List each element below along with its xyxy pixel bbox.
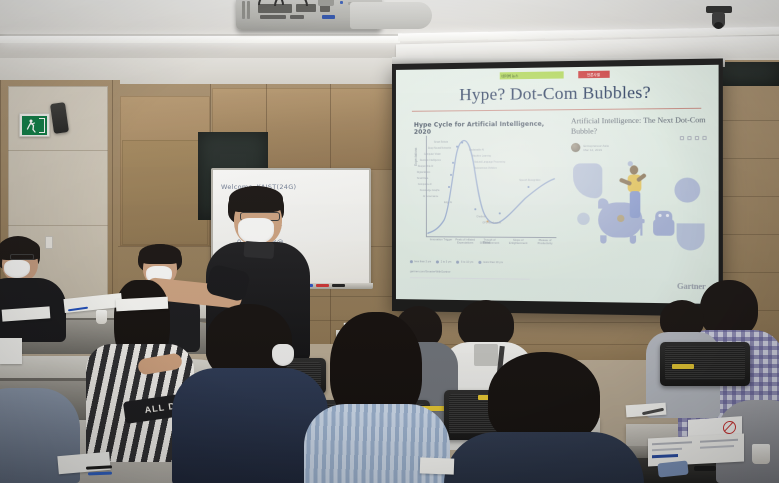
- twitter-icon[interactable]: [687, 136, 691, 140]
- projector-housing: [350, 2, 432, 29]
- gartner-logo: Gartner: [677, 282, 706, 292]
- chair-tag: [672, 364, 694, 369]
- chart-heading-wrap: Hype Cycle for Artificial Intelligence, …: [414, 121, 556, 136]
- article-byline: Entrepreneur Asia Mar 12, 2019: [571, 142, 709, 152]
- chart-annotation: Composite AI: [418, 184, 432, 186]
- slide-title: Hype? Dot-Com Bubbles?: [396, 81, 719, 105]
- deco-shape-1: [573, 163, 602, 198]
- chart-annotation: Responsible AI: [418, 166, 433, 168]
- avatar: [571, 143, 580, 152]
- legend-item-2: 2 to 5 yrs: [436, 260, 451, 263]
- linkedin-icon[interactable]: [695, 136, 699, 140]
- chart-legend: bottom-left less than 2 yrs 2 to 5 yrs 5…: [410, 260, 503, 264]
- article-title: Artificial Intelligence: The Next Dot-Co…: [571, 115, 709, 137]
- slide-bar-segment-1: 네이버 뉴스: [499, 71, 563, 79]
- chart-title: Hype Cycle for Artificial Intelligence, …: [414, 121, 556, 136]
- phone[interactable]: [694, 466, 716, 471]
- deco-shape-2: [674, 178, 700, 203]
- deco-shape-4: [577, 213, 590, 225]
- no-smoking-icon: [723, 421, 736, 435]
- chart-annotation: Smart Robots: [434, 142, 448, 144]
- exit-pictogram: [22, 116, 47, 135]
- byline-meta: Mar 12, 2019: [583, 148, 608, 152]
- robot-icon: [653, 219, 674, 236]
- legend-item-4: more than 10 yrs: [478, 261, 502, 264]
- chart-phase: Slope of Enlightenment: [505, 239, 532, 246]
- chart-annotation: Explainable AI: [469, 150, 484, 152]
- security-camera-lens: [714, 22, 723, 29]
- projection-screen: 네이버 뉴스 언론사별 Hype? Dot-Com Bubbles? Hype …: [396, 65, 719, 304]
- link-icon[interactable]: [702, 136, 706, 140]
- person-illustration: [630, 165, 638, 174]
- face-mask: [4, 260, 30, 278]
- chart-source: gartner.com/SmarterWithGartner: [410, 269, 451, 273]
- handout-papers[interactable]: [420, 457, 455, 474]
- share-row: [680, 136, 707, 140]
- chart-annotation: Computer Vision: [424, 154, 441, 156]
- face-mask: [272, 344, 294, 366]
- legend-item-1: less than 2 yrs: [410, 260, 431, 263]
- slide-bar-segment-2: 언론사별: [578, 71, 609, 79]
- marker-red[interactable]: [316, 284, 329, 287]
- article-illustration: [571, 155, 711, 255]
- chart-phase: Peak of Inflated Expectations: [452, 238, 478, 245]
- marker-black[interactable]: [332, 284, 345, 287]
- chart-annotation: Small Data: [417, 178, 428, 180]
- projector-cable-2: [274, 0, 308, 6]
- emergency-exit-sign: [19, 113, 50, 137]
- chart-phase: Plateau of Productivity: [532, 239, 559, 246]
- chart-annotation: Deep Neural Networks: [428, 148, 451, 150]
- slide-browser-bar: 네이버 뉴스 언론사별: [499, 71, 609, 80]
- projection-screen-frame: 네이버 뉴스 언론사별 Hype? Dot-Com Bubbles? Hype …: [392, 58, 723, 316]
- chart-annotation: Autonomous Vehicles: [474, 168, 496, 170]
- deco-shape-3: [677, 223, 705, 250]
- facebook-icon[interactable]: [680, 136, 684, 140]
- dark-navy-shirt: [444, 432, 644, 483]
- chart-annotation: Machine Learning: [472, 156, 491, 158]
- chart-annotation: GPU Accelerators: [482, 222, 501, 224]
- projector-mount: [318, 0, 334, 6]
- article-panel: Artificial Intelligence: The Next Dot-Co…: [571, 115, 709, 152]
- paper-cup[interactable]: [96, 310, 107, 324]
- legend-item-3: 5 to 10 yrs: [456, 261, 473, 264]
- chart-phase: Trough of Disillusionment: [476, 239, 502, 246]
- chart-annotation: Speech Recognition: [519, 180, 540, 182]
- face-mask: [238, 218, 274, 244]
- chart-annotation: Decision Intelligence: [420, 160, 441, 162]
- lecture-room-photo: Welcome_KAIST(24G) 참고하여 kaist_교육실자 0.6x2…: [0, 0, 779, 483]
- tissue-box[interactable]: [0, 338, 22, 364]
- wall-panel-b: [122, 140, 208, 245]
- slide-divider: [412, 108, 701, 112]
- glasses: [10, 254, 34, 260]
- chart-annotation: Natural Language Processing: [474, 162, 505, 164]
- hype-cycle-chart: Expectations Time Smart Robots Deep Neur…: [414, 135, 559, 250]
- running-person-icon: [26, 119, 37, 133]
- ceiling-light-strip-left: [0, 36, 400, 43]
- paper-cup[interactable]: [752, 444, 770, 464]
- chart-annotation: AI Governance: [423, 196, 438, 198]
- chart-annotation: Knowledge Graphs: [420, 190, 440, 192]
- chart-annotation: Edge AI: [444, 202, 452, 204]
- wall-switch[interactable]: [45, 236, 53, 249]
- chart-annotation: Digital Ethics: [417, 172, 430, 174]
- chart-phase: Innovation Trigger: [428, 238, 454, 241]
- chart-y-label: Expectations: [414, 148, 418, 166]
- chart-annotation: Chatbots: [476, 216, 485, 218]
- handout-papers[interactable]: [648, 433, 744, 466]
